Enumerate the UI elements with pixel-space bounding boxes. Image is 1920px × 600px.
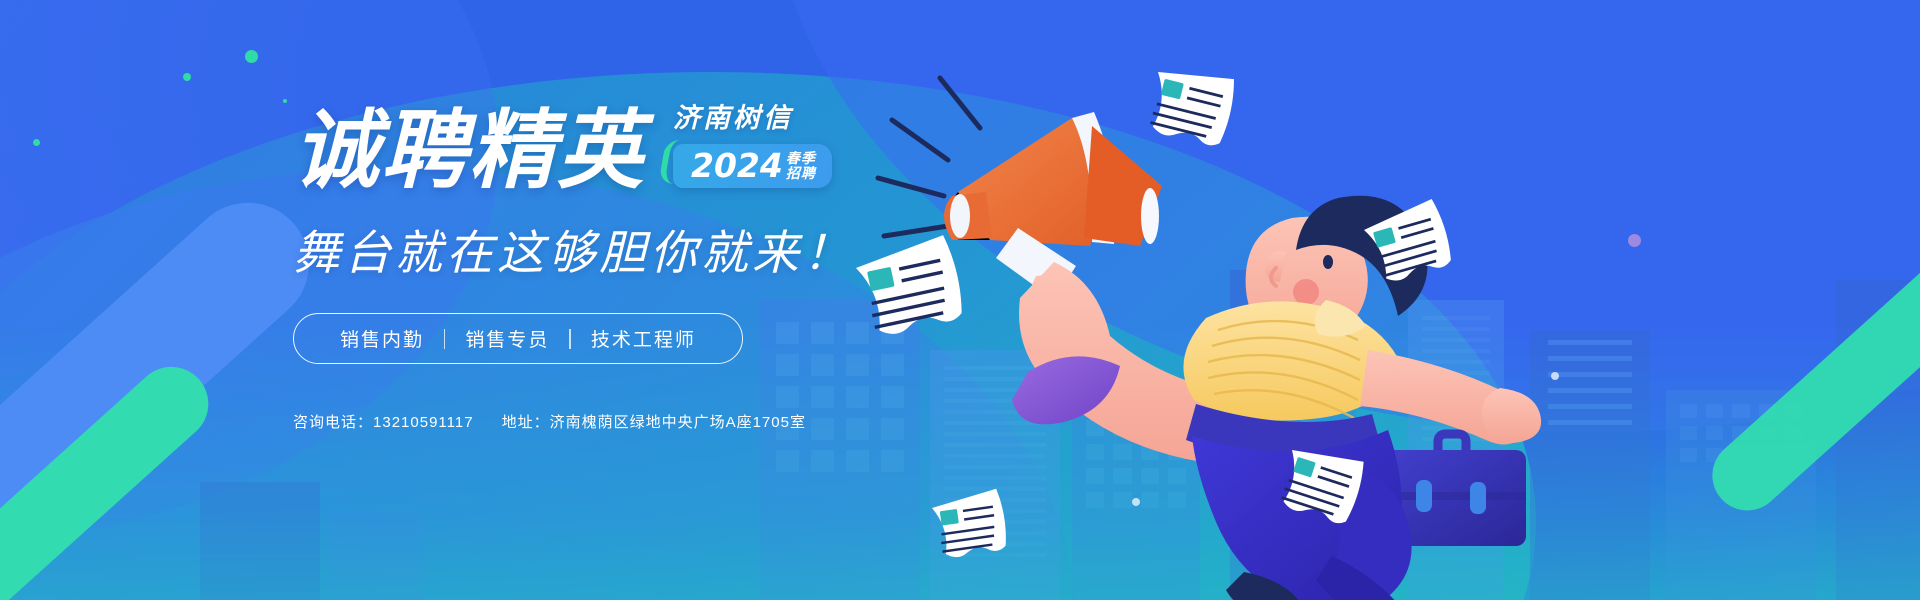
decor-dot	[183, 73, 191, 81]
year-label: 2024	[691, 149, 783, 182]
decor-dot	[1628, 234, 1641, 247]
decor-dot	[245, 50, 258, 63]
page-title: 诚聘精英	[293, 108, 645, 194]
hand-right	[1482, 388, 1541, 443]
season-label: 春季 招聘	[786, 151, 816, 180]
illustration	[840, 0, 1580, 600]
contact-info: 咨询电话：13210591117 地址：济南槐荫区绿地中央广场A座1705室	[293, 411, 806, 432]
resume-paper-icon	[853, 234, 966, 339]
job-tag-0[interactable]: 销售内勤	[320, 325, 444, 352]
phone-value[interactable]: 13210591117	[373, 414, 474, 431]
address-label: 地址：	[502, 414, 550, 431]
cheek	[1293, 279, 1319, 305]
address-group: 地址：济南槐荫区绿地中央广场A座1705室	[502, 411, 806, 432]
job-tag-2[interactable]: 技术工程师	[571, 325, 716, 352]
phone-group: 咨询电话：13210591117	[293, 411, 474, 432]
year-badge: 2024 春季 招聘	[673, 144, 832, 188]
brand-name: 济南树信	[673, 96, 832, 135]
recruitment-banner: 诚聘精英 济南树信 2024 春季 招聘 舞台就在这够胆你就来！ 销售内勤 销售…	[0, 0, 1920, 600]
decor-dot	[33, 139, 40, 146]
resume-paper-icon	[1144, 61, 1239, 149]
decor-dot	[283, 99, 287, 103]
address-value: 济南槐荫区绿地中央广场A座1705室	[550, 414, 806, 431]
resume-paper-icon	[931, 488, 1009, 559]
job-tag-1[interactable]: 销售专员	[445, 325, 569, 352]
job-tags-pill: 销售内勤 销售专员 技术工程师	[293, 313, 743, 364]
season-line-2: 招聘	[786, 166, 816, 180]
phone-label: 咨询电话：	[293, 414, 373, 431]
brand-badge-group: 济南树信 2024 春季 招聘	[657, 96, 832, 194]
season-line-1: 春季	[786, 151, 816, 165]
eye	[1323, 255, 1333, 269]
